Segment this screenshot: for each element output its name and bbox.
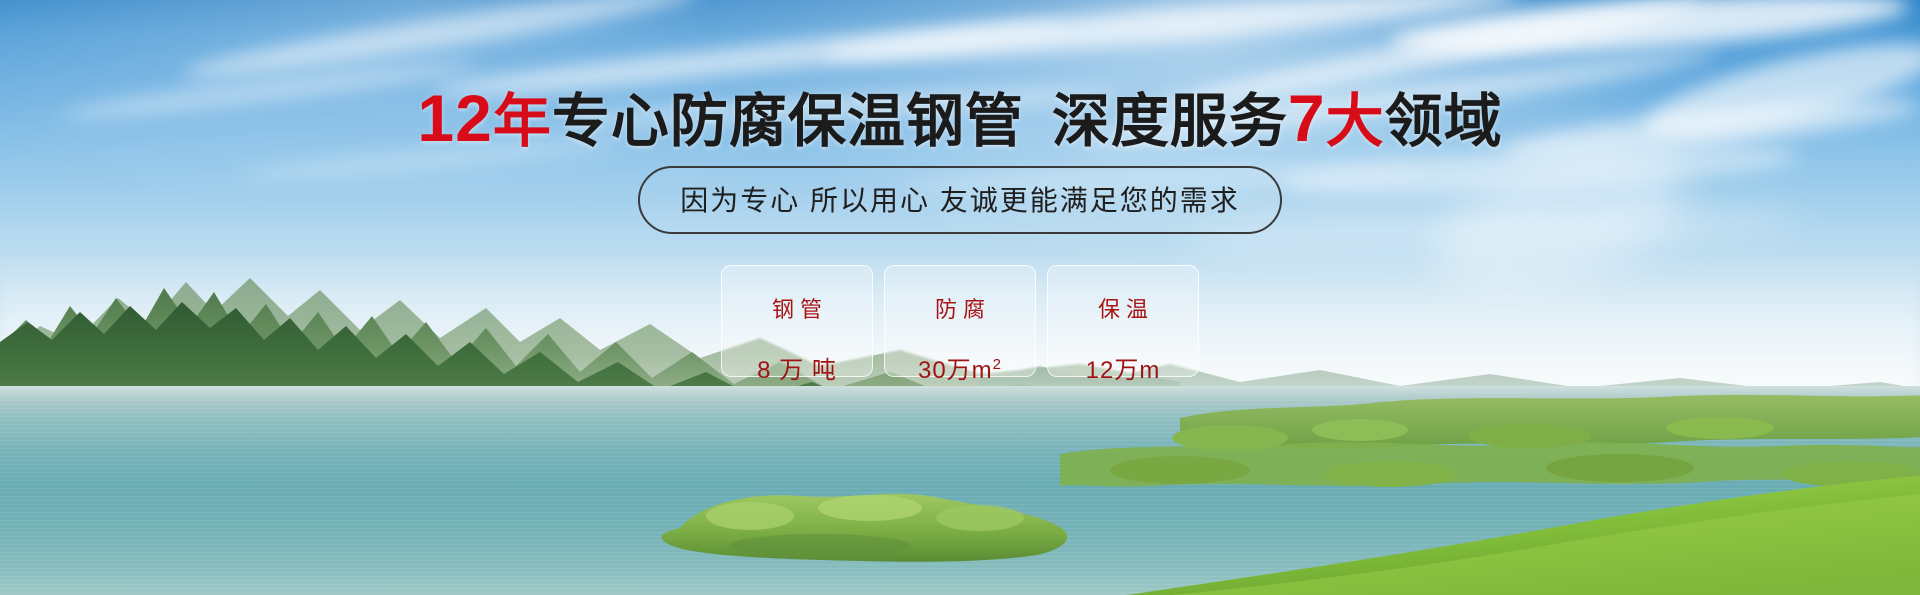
stat-card-insulation[interactable]: 保温 12万m — [1047, 265, 1199, 377]
stat-value-text: 12万m — [1086, 357, 1161, 384]
headline-segment-2: 深度服务 — [1052, 89, 1288, 154]
page-title: 12年专心防腐保温钢管深度服务7大领域 — [0, 86, 1920, 154]
headline-segment-1: 专心防腐保温钢管 — [552, 89, 1024, 154]
headline-segment-3: 领域 — [1385, 89, 1503, 154]
stat-card-value: 30万m2 — [918, 350, 1002, 385]
headline-fields-number: 7 — [1288, 81, 1326, 155]
subtitle-container: 因为专心 所以用心 友诚更能满足您的需求 — [0, 166, 1920, 234]
stat-card-title: 防腐 — [929, 292, 991, 324]
headline-fields-unit: 大 — [1326, 89, 1385, 154]
grass-islet — [640, 482, 1080, 572]
stat-card-steel-pipe[interactable]: 钢管 8 万 吨 — [721, 265, 873, 377]
stats-card-group: 钢管 8 万 吨 防腐 30万m2 保温 12万m — [0, 265, 1920, 377]
stat-value-text: 8 万 吨 — [757, 357, 837, 384]
headline-years-number: 12 — [417, 81, 492, 155]
headline-years-unit: 年 — [493, 89, 552, 154]
stat-card-anticorrosion[interactable]: 防腐 30万m2 — [884, 265, 1036, 377]
stat-value-text: 30万m — [918, 357, 993, 384]
stat-card-value: 8 万 吨 — [757, 350, 837, 385]
stat-value-superscript: 2 — [993, 356, 1002, 373]
stat-card-value: 12万m — [1086, 350, 1161, 385]
stat-card-title: 保温 — [1092, 292, 1154, 324]
foreground-grass — [1120, 470, 1920, 595]
subtitle-pill: 因为专心 所以用心 友诚更能满足您的需求 — [638, 166, 1282, 234]
promo-banner: 12年专心防腐保温钢管深度服务7大领域 因为专心 所以用心 友诚更能满足您的需求… — [0, 0, 1920, 595]
stat-card-title: 钢管 — [766, 292, 828, 324]
